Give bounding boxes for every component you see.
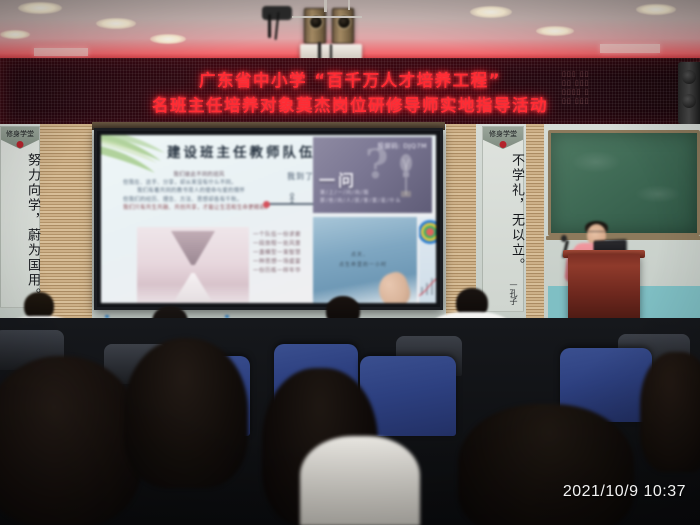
lightbulb-icon <box>398 151 414 199</box>
chalkboard <box>548 130 700 236</box>
list-item: 一种思想一场盛宴 <box>253 258 301 267</box>
wood-slat-wall <box>526 124 544 324</box>
recessed-light <box>536 26 574 36</box>
right-calligraphy-panel: 修身学堂 不学礼，无以立。 —孔子 <box>482 126 524 312</box>
left-calligraphy-panel: 修身学堂 努力向学，蔚为国用。 <box>0 126 40 308</box>
ceiling-speaker <box>332 8 354 44</box>
timeline-marker-start <box>263 201 270 208</box>
slide-paragraph-heading: 我们彼此不同的班风 <box>123 171 275 179</box>
attendee-head-foreground <box>124 338 248 488</box>
recessed-light <box>150 34 186 44</box>
banner-dim-region: ▯▯▯ ▯▯▯▯ ▯▯▯▯▯▯▯ ▯▯▯ ▯▯▯ <box>562 70 692 116</box>
blue-panel-line-1: 点天、 <box>351 251 369 258</box>
recessed-light <box>636 4 676 15</box>
slide-paragraph: 我们彼此不同的班风 但我在、这手、分享，却从来没有什么不同。 我们有着共同的教书… <box>123 171 275 212</box>
slide-paragraph-line: 我们有着共同的教书育人的使命与爱的情怀 <box>137 187 245 195</box>
seal-icon <box>500 141 507 148</box>
question-mark-glyph: ? <box>365 145 388 185</box>
projector-pole <box>324 0 327 12</box>
trend-line <box>419 273 436 297</box>
podium <box>568 254 640 320</box>
question-panel-title: 一问 <box>319 167 357 191</box>
hourglass-image <box>137 227 249 303</box>
photo-scene: 广东省中小学 “百千万人才培养工程” 名班主任培养对象莫杰岗位研修导师实地指导活… <box>0 0 700 525</box>
attendee-head-foreground <box>458 404 634 525</box>
right-calligraphy-text: 不学礼，无以立。 <box>483 153 523 273</box>
glasses-icon <box>588 231 605 235</box>
ceiling-speaker <box>304 8 326 44</box>
list-item: 一段旅程一处风景 <box>253 240 301 249</box>
projection-screen: 建设班主任教师队伍 我们彼此不同的班风 但我在、这手、分享，却从来没有什么不同。… <box>94 128 443 310</box>
left-calligraphy-text: 努力向学，蔚为国用。 <box>1 153 39 303</box>
recessed-light <box>470 6 512 18</box>
cable <box>268 14 271 38</box>
hourglass-top <box>171 231 215 265</box>
speaker-cone-icon <box>682 70 696 84</box>
slide-list: 一个队伍一份求索 一段旅程一处风景 一盏模型一束智慧 一种思想一场盛宴 一份历练… <box>253 231 301 276</box>
attendee-head-foreground <box>640 352 700 472</box>
attendee-head-foreground <box>0 356 142 525</box>
ceiling-panel <box>34 48 88 56</box>
target-icon <box>419 219 436 245</box>
blue-panel-line-2: 点生命里的一小时 <box>339 261 387 268</box>
question-panel: 投屏码: DJQ7M ? 一问 第/上/一/问/向/题 那/些/向/人/民/答/… <box>313 137 432 213</box>
list-item: 一个队伍一份求索 <box>253 231 301 240</box>
speaker-cone-icon <box>682 94 696 108</box>
stick-figure-icon <box>288 193 296 205</box>
recessed-light <box>18 2 62 14</box>
ceiling <box>0 0 700 62</box>
chalk-smudge <box>571 151 621 173</box>
wall-speaker <box>678 62 700 124</box>
slide-title: 建设班主任教师队伍 <box>167 141 316 161</box>
recessed-light <box>0 30 30 39</box>
recessed-light <box>96 18 136 29</box>
seal-icon <box>17 141 24 148</box>
hourglass-bottom <box>173 273 213 303</box>
list-item: 一盏模型一束智慧 <box>253 249 301 258</box>
slide-paragraph-line: 我们只有共生共融、共创共享，才能让生活和生命更精彩。 <box>123 205 271 211</box>
timeline-label: 我到了 <box>287 171 314 182</box>
attendee-shoulders-foreground <box>300 436 420 525</box>
ceiling-panel <box>600 44 660 53</box>
chalk-smudge <box>635 185 681 203</box>
growth-chart-panel <box>419 217 436 303</box>
led-banner: 广东省中小学 “百千万人才培养工程” 名班主任培养对象莫杰岗位研修导师实地指导活… <box>0 58 700 128</box>
slide-paragraph-line: 但我在、这手、分享，却从来没有什么不同。 <box>123 180 237 186</box>
photo-timestamp: 2021/10/9 10:37 <box>563 483 686 501</box>
slide-paragraph-line: 但我们的经历、理念、方法、思想却各有千秋。 <box>123 197 243 203</box>
calligraphy-attribution: —孔子 <box>508 280 519 305</box>
projector-mount-bar <box>292 16 362 18</box>
slide-content: 建设班主任教师队伍 我们彼此不同的班风 但我在、这手、分享，却从来没有什么不同。… <box>101 135 436 303</box>
list-item: 一份历练一样年华 <box>253 267 301 276</box>
projector-pole <box>348 0 350 10</box>
